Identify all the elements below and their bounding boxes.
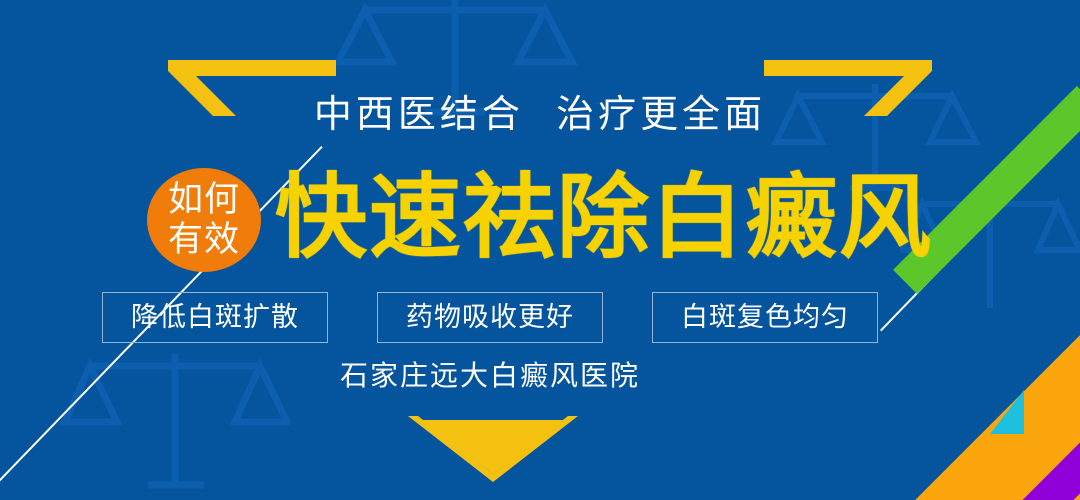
hospital-name: 石家庄远大白癜风医院 [0,362,1080,390]
feature-box-3[interactable]: 白斑复色均匀 [652,292,878,343]
headline-row: 如何 有效 快速祛除白癜风 [0,158,1080,278]
feature-box-list: 降低白斑扩散 药物吸收更好 白斑复色均匀 [0,292,1080,343]
feature-box-2[interactable]: 药物吸收更好 [377,292,603,343]
promo-banner: 中西医结合 治疗更全面 如何 有效 快速祛除白癜风 降低白斑扩散 药物吸收更好 … [0,0,1080,500]
badge-line-1: 如何 [168,180,240,220]
feature-box-1[interactable]: 降低白斑扩散 [102,292,328,343]
badge-line-2: 有效 [168,220,240,260]
stripe-purple [973,415,1080,500]
banner-subtitle: 中西医结合 治疗更全面 [0,95,1080,133]
chevron-down [408,416,578,488]
how-effective-badge: 如何 有效 [147,168,261,272]
banner-headline: 快速祛除白癜风 [275,172,933,264]
stripe-cyan-triangle [990,390,1024,434]
